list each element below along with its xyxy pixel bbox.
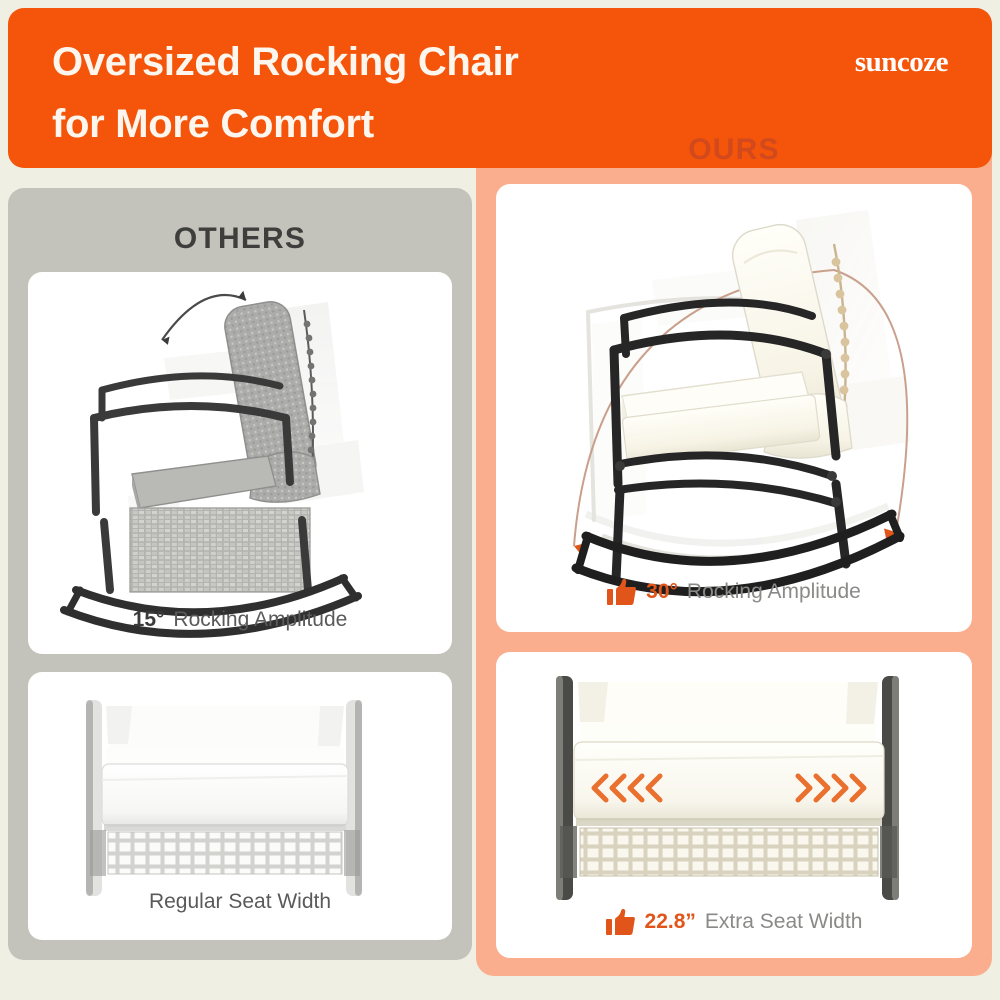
ours-seat-caption: 22.8” Extra Seat Width xyxy=(496,908,972,936)
others-rocking-metric: 15° xyxy=(133,608,165,632)
others-seat-text: Regular Seat Width xyxy=(149,890,331,914)
others-rocking-text: Rocking Amplitude xyxy=(173,608,347,632)
others-rocking-caption: 15° Rocking Amplitude xyxy=(28,608,452,632)
ours-seat-text: Extra Seat Width xyxy=(705,910,863,934)
others-seat-caption: Regular Seat Width xyxy=(28,890,452,914)
thumbs-up-icon xyxy=(606,908,636,936)
others-seat-card: Regular Seat Width xyxy=(28,672,452,940)
ours-rocking-caption: 30° Rocking Amplitude xyxy=(496,578,972,606)
ours-rocking-card: 30° Rocking Amplitude xyxy=(496,184,972,632)
thumbs-up-icon xyxy=(607,578,637,606)
ours-rocking-text: Rocking Amplitude xyxy=(687,580,861,604)
ours-rocking-chair-illustration xyxy=(496,184,972,632)
ours-seat-card: 22.8” Extra Seat Width xyxy=(496,652,972,958)
others-label: OTHERS xyxy=(0,222,480,256)
others-rocking-chair-illustration xyxy=(28,272,452,654)
ours-label: OURS xyxy=(476,133,992,167)
brand-logo: suncoze xyxy=(855,46,948,79)
others-rocking-card: 15° Rocking Amplitude xyxy=(28,272,452,654)
ours-seat-metric: 22.8” xyxy=(645,910,696,934)
ours-rocking-metric: 30° xyxy=(646,580,678,604)
